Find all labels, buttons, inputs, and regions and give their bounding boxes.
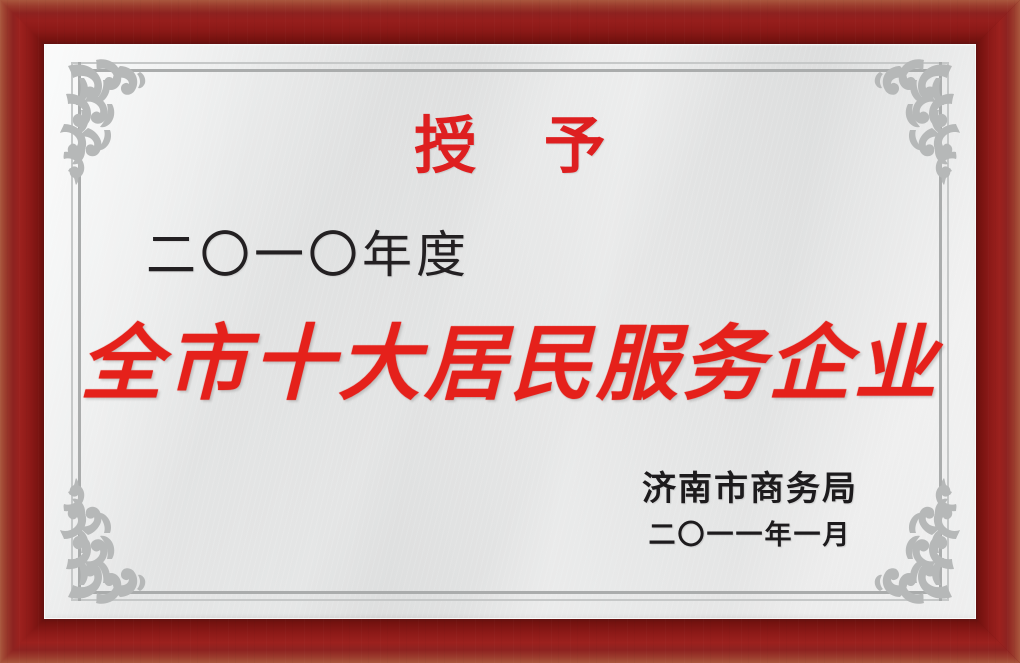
issuing-organization-text: 济南市商务局 — [642, 468, 858, 511]
award-verb-text: 授 予 — [44, 116, 976, 178]
frame-edge-bottom — [0, 619, 1020, 663]
plaque-text-block: 授 予 二〇一〇年度 全市十大居民服务企业 济南市商务局 二〇一一年一月 — [44, 44, 976, 619]
silver-plate: 授 予 二〇一〇年度 全市十大居民服务企业 济南市商务局 二〇一一年一月 — [44, 44, 976, 619]
frame-edge-right — [976, 0, 1020, 663]
frame-edge-left — [0, 0, 44, 663]
frame-edge-top — [0, 0, 1020, 44]
award-title-text: 全市十大居民服务企业 — [44, 322, 976, 409]
issue-date-text: 二〇一一年一月 — [642, 519, 858, 551]
award-plaque: 授 予 二〇一〇年度 全市十大居民服务企业 济南市商务局 二〇一一年一月 — [0, 0, 1020, 663]
signature-block: 济南市商务局 二〇一一年一月 — [642, 468, 858, 551]
award-year-text: 二〇一〇年度 — [146, 230, 470, 280]
